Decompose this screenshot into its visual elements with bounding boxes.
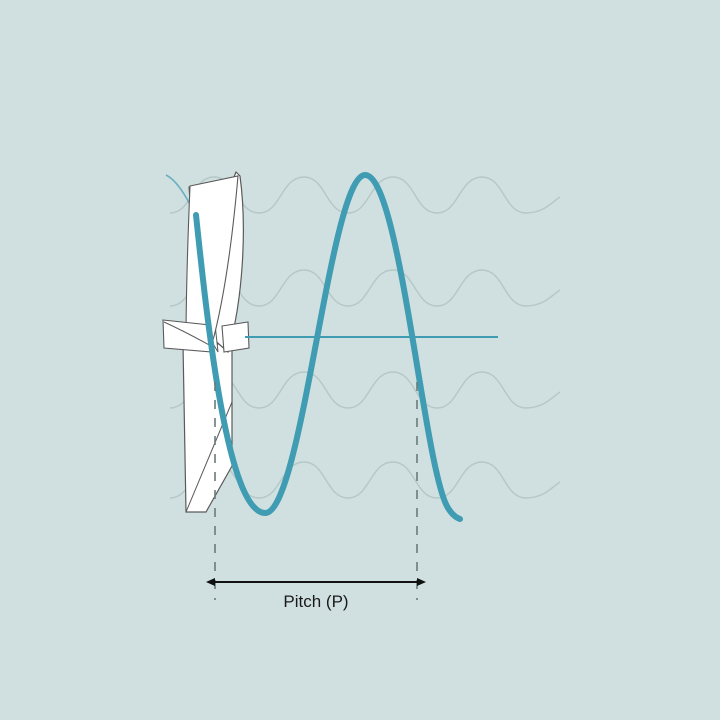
diagram-canvas: Pitch (P) bbox=[0, 0, 720, 720]
hub-band-right bbox=[222, 322, 249, 352]
propeller-pitch-diagram: Pitch (P) bbox=[0, 0, 720, 720]
background-plate bbox=[0, 0, 720, 720]
pitch-label: Pitch (P) bbox=[283, 592, 348, 611]
